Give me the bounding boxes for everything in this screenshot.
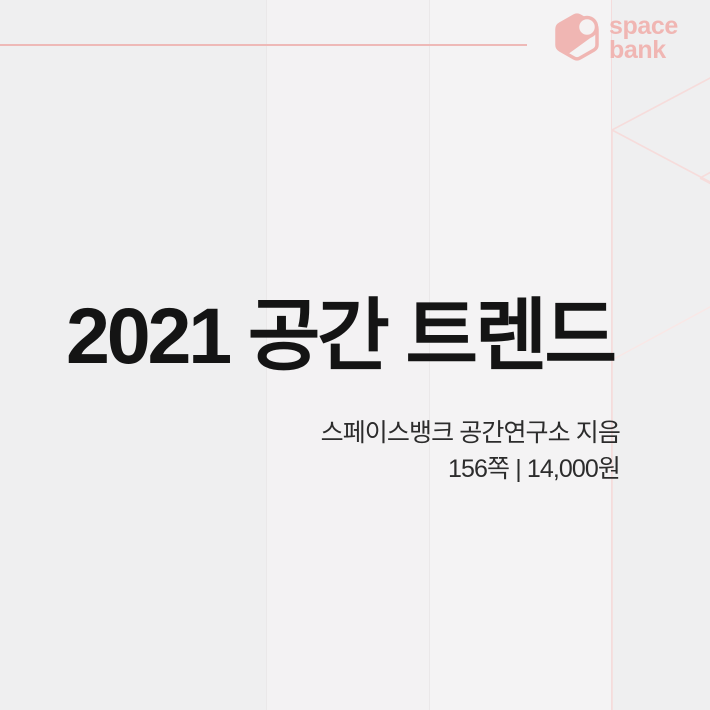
brand-wordmark: space bank bbox=[609, 12, 678, 62]
brand-wordmark-line2: bank bbox=[609, 38, 678, 62]
brand-logo: space bank bbox=[552, 12, 678, 62]
cover-subtitle-block: 스페이스뱅크 공간연구소 지음 156쪽 | 14,000원 bbox=[321, 416, 620, 487]
top-accent-rule bbox=[0, 44, 527, 46]
cover-title: 2021 공간 트렌드 bbox=[66, 296, 626, 375]
space-bank-hexagon-logo-mark bbox=[552, 12, 602, 62]
cover-specs-line: 156쪽 | 14,000원 bbox=[321, 452, 620, 488]
book-cover-poster: space bank 2021 공간 트렌드 스페이스뱅크 공간연구소 지음 1… bbox=[0, 0, 710, 710]
cover-author-line: 스페이스뱅크 공간연구소 지음 bbox=[321, 416, 620, 452]
brand-wordmark-line1: space bbox=[609, 14, 678, 38]
